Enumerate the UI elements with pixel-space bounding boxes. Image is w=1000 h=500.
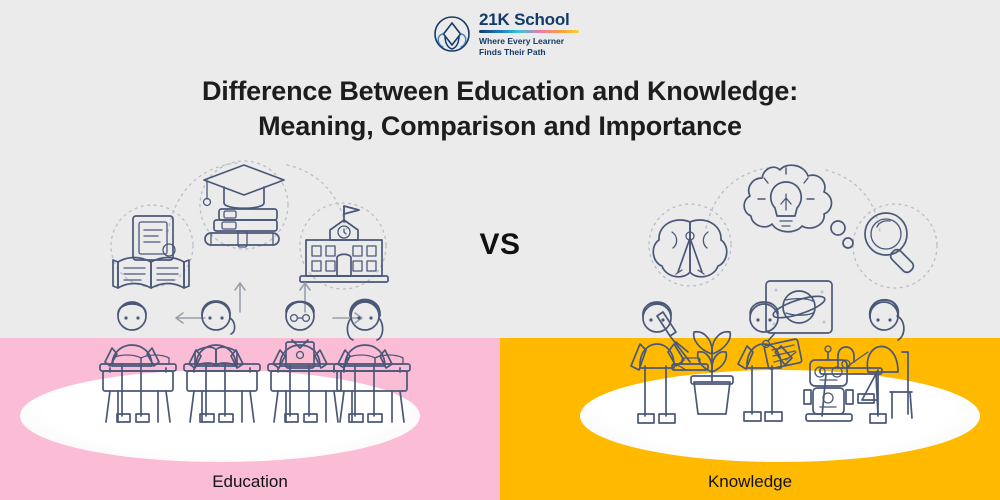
arrow-left-icon xyxy=(176,313,205,323)
education-floor-ellipse xyxy=(20,370,420,462)
dotted-arc-right-right xyxy=(826,170,880,232)
arrow-right-icon xyxy=(333,313,362,323)
logo-name: 21K School xyxy=(479,11,579,28)
arrow-up-icon-2 xyxy=(300,283,310,312)
logo-tagline-line1: Where Every Learner xyxy=(479,36,579,47)
arrow-up-icon-1 xyxy=(235,283,245,312)
knowledge-label: Knowledge xyxy=(500,472,1000,492)
logo-wordmark: 21K School Where Every Learner Finds The… xyxy=(479,11,579,57)
vs-divider-label: VS xyxy=(0,228,1000,262)
logo-gradient-rule xyxy=(479,30,579,33)
scene-arrows-left xyxy=(176,283,362,323)
page-title: Difference Between Education and Knowled… xyxy=(0,74,1000,144)
page-title-line1: Difference Between Education and Knowled… xyxy=(0,74,1000,109)
dotted-arc-right xyxy=(287,165,347,231)
dotted-arc-left xyxy=(168,163,237,232)
brand-logo[interactable]: 21K School Where Every Learner Finds The… xyxy=(432,11,579,57)
dotted-arc-right-left xyxy=(706,168,768,228)
infographic-canvas: 21K School Where Every Learner Finds The… xyxy=(0,0,1000,500)
education-label: Education xyxy=(0,472,500,492)
page-title-line2: Meaning, Comparison and Importance xyxy=(0,109,1000,144)
logo-tagline-line2: Finds Their Path xyxy=(479,47,579,58)
knowledge-floor-ellipse xyxy=(580,370,980,462)
lotus-circle-icon xyxy=(432,14,472,54)
